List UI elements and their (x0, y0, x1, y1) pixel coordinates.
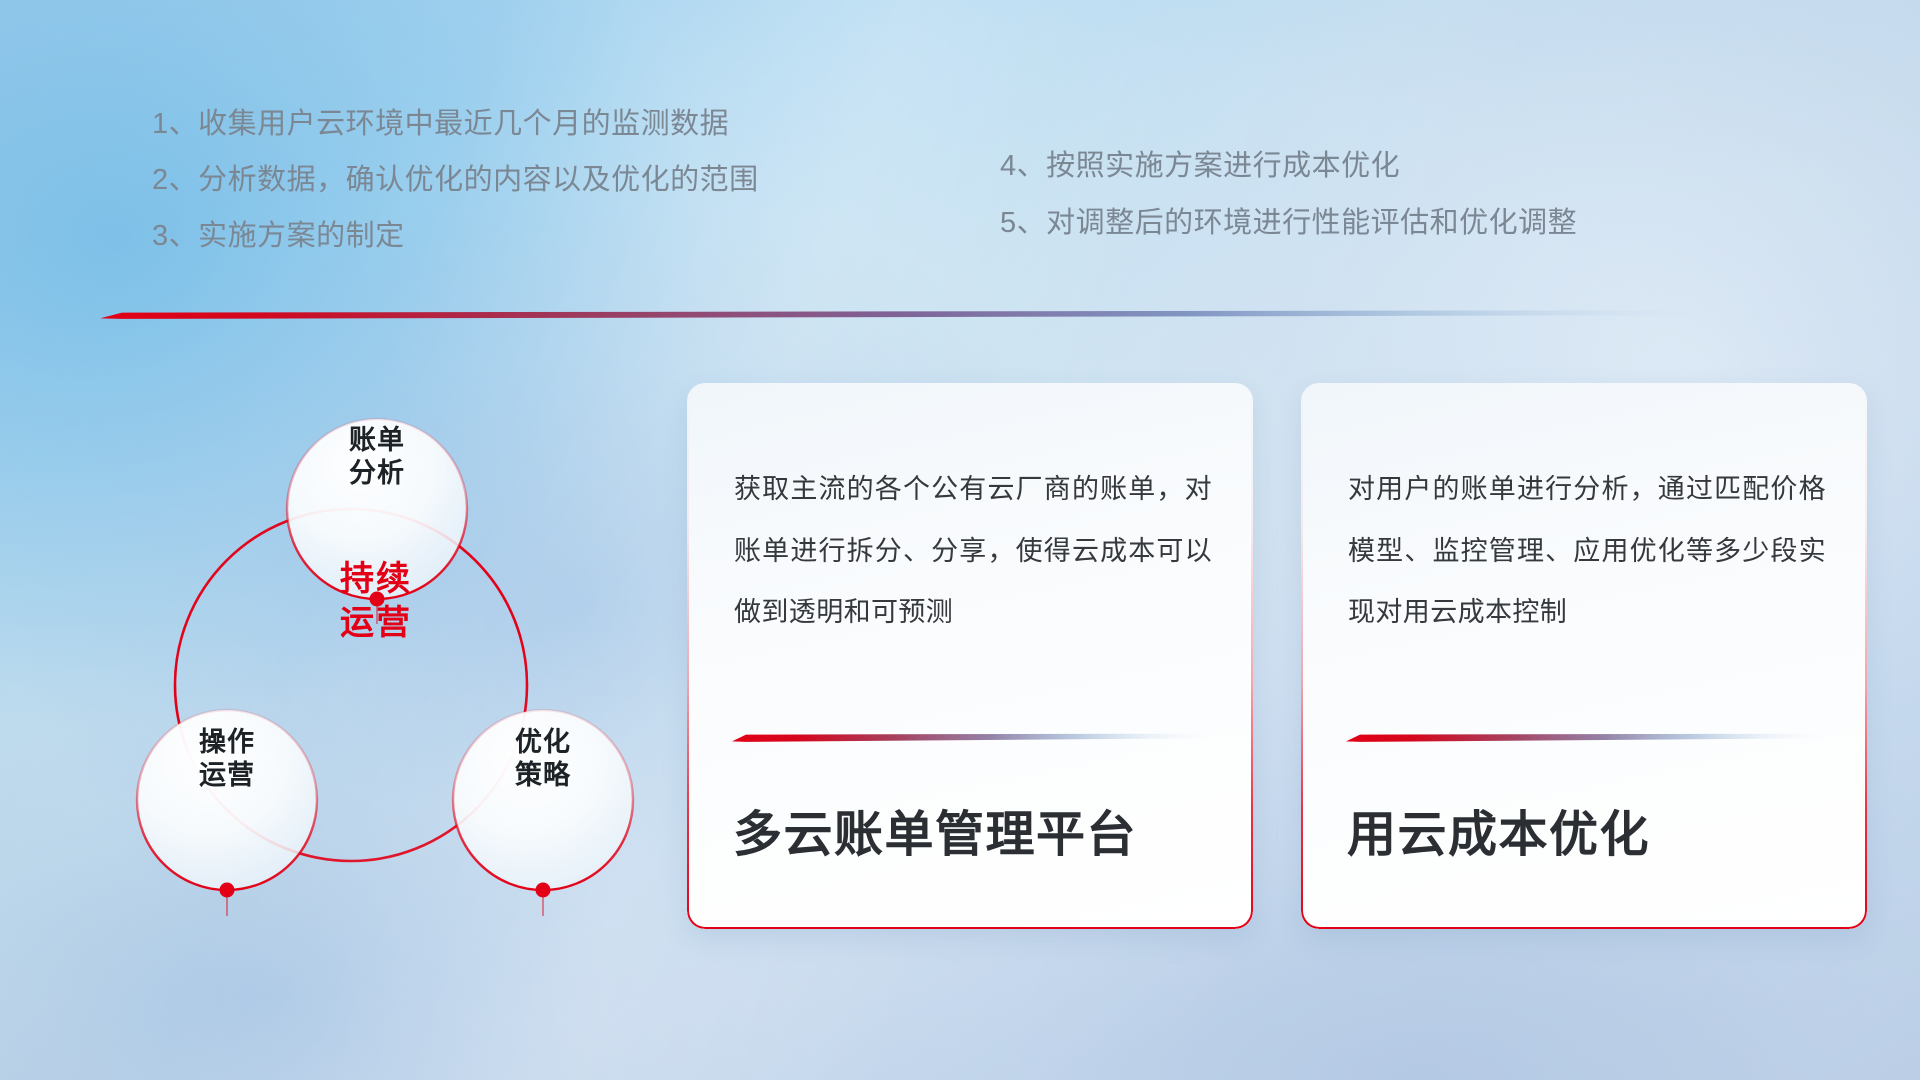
venn-circle-optimization (453, 710, 633, 890)
section-divider (100, 308, 1700, 319)
card-multi-cloud-bill-platform[interactable]: 获取主流的各个公有云厂商的账单，对账单进行拆分、分享，使得云成本可以做到透明和可… (687, 383, 1253, 929)
step-item-5: 5、对调整后的环境进行性能评估和优化调整 (1000, 209, 1577, 238)
card-body-text: 对用户的账单进行分析，通过匹配价格模型、监控管理、应用优化等多少段实现对用云成本… (1348, 459, 1826, 644)
card-divider (732, 733, 1212, 742)
venn-diagram (95, 350, 635, 950)
venn-circle-bill-analysis (287, 419, 467, 599)
step-item-3: 3、实施方案的制定 (152, 222, 759, 251)
card-divider (1346, 733, 1826, 742)
slide-canvas: 1、收集用户云环境中最近几个月的监测数据 2、分析数据，确认优化的内容以及优化的… (0, 0, 1920, 1080)
steps-list-right: 4、按照实施方案进行成本优化 5、对调整后的环境进行性能评估和优化调整 (1000, 152, 1577, 266)
steps-list-left: 1、收集用户云环境中最近几个月的监测数据 2、分析数据，确认优化的内容以及优化的… (152, 110, 759, 278)
step-item-4: 4、按照实施方案进行成本优化 (1000, 152, 1577, 181)
card-body-text: 获取主流的各个公有云厂商的账单，对账单进行拆分、分享，使得云成本可以做到透明和可… (734, 459, 1212, 644)
venn-node-right (536, 883, 551, 898)
venn-node-left (220, 883, 235, 898)
venn-circle-operations (137, 710, 317, 890)
step-item-1: 1、收集用户云环境中最近几个月的监测数据 (152, 110, 759, 139)
venn-node-top (370, 592, 385, 607)
card-title: 多云账单管理平台 (733, 795, 1137, 866)
card-cloud-cost-optimization[interactable]: 对用户的账单进行分析，通过匹配价格模型、监控管理、应用优化等多少段实现对用云成本… (1301, 383, 1867, 929)
step-item-2: 2、分析数据，确认优化的内容以及优化的范围 (152, 166, 759, 195)
card-title: 用云成本优化 (1347, 795, 1650, 866)
